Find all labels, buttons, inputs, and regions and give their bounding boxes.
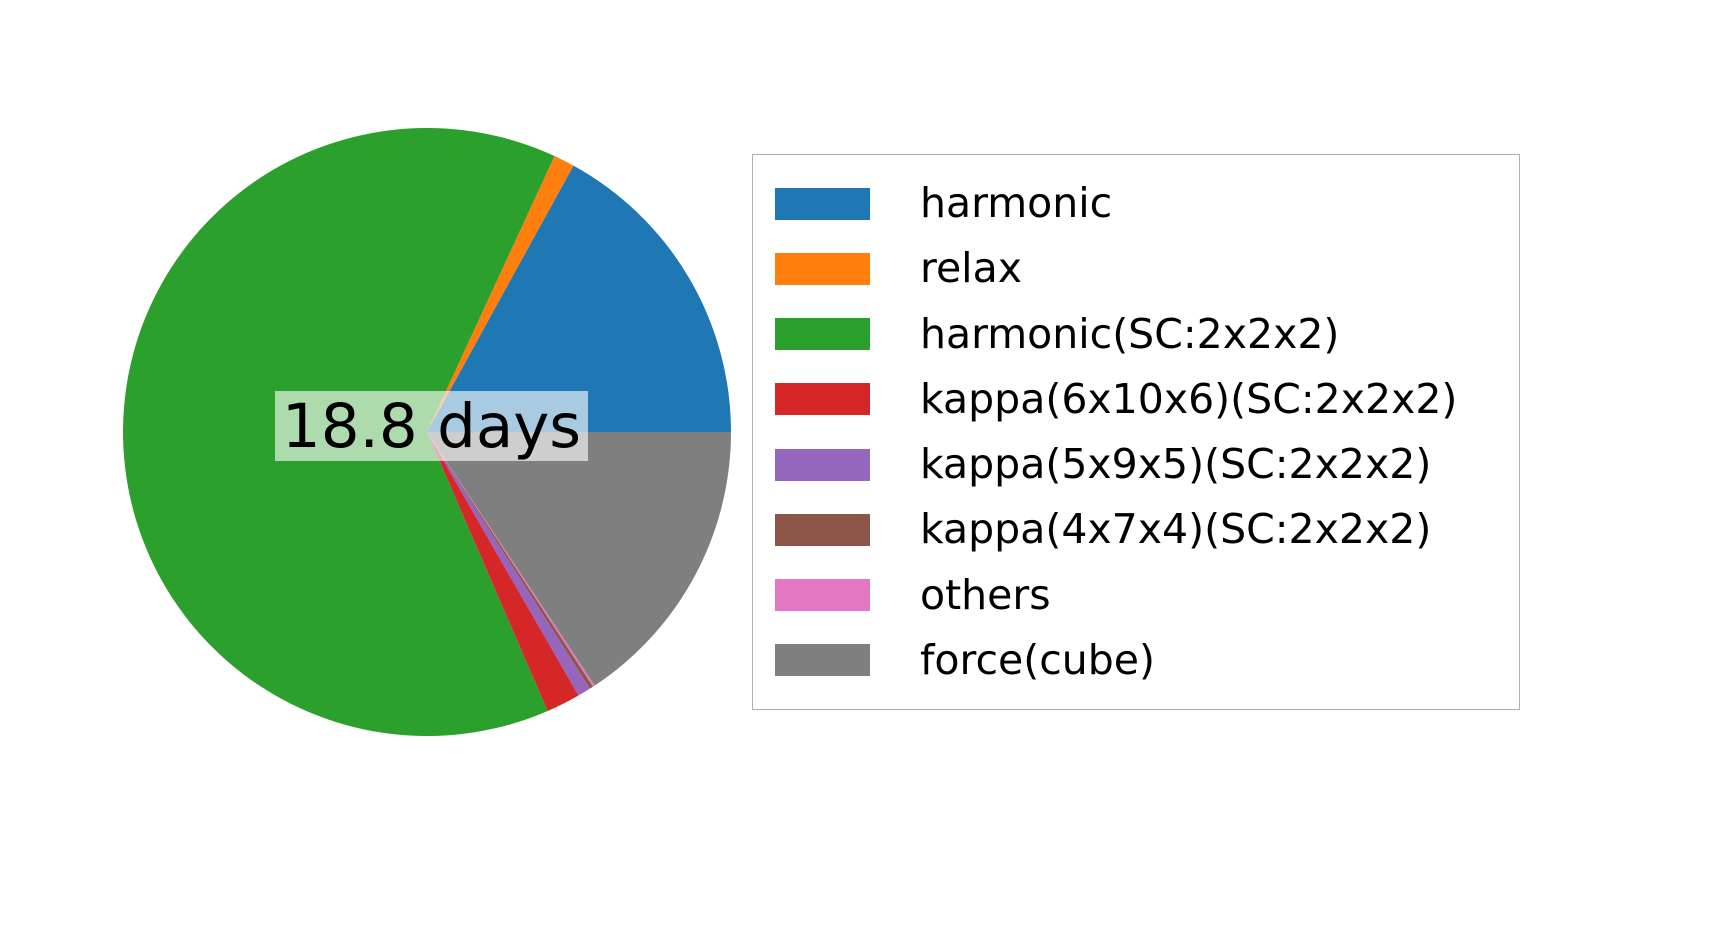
legend-color-swatch [775,383,870,415]
legend-color-swatch [775,579,870,611]
legend-color-swatch [775,449,870,481]
legend-entry-label: harmonic(SC:2x2x2) [920,314,1339,355]
legend-color-swatch [775,644,870,676]
legend-entry-list: harmonicrelaxharmonic(SC:2x2x2)kappa(6x1… [753,171,1519,693]
legend-entry[interactable]: force(cube) [753,628,1519,693]
legend-entry-label: others [920,575,1051,616]
legend-entry[interactable]: harmonic [753,171,1519,236]
legend-entry[interactable]: kappa(5x9x5)(SC:2x2x2) [753,432,1519,497]
legend-entry-label: relax [920,248,1022,289]
legend-entry[interactable]: relax [753,236,1519,301]
legend-entry-label: harmonic [920,183,1112,224]
legend-color-swatch [775,188,870,220]
legend-entry-label: kappa(5x9x5)(SC:2x2x2) [920,444,1431,485]
legend-color-swatch [775,253,870,285]
pie-chart-figure: 18.8 days harmonicrelaxharmonic(SC:2x2x2… [0,0,1728,951]
legend-entry[interactable]: others [753,563,1519,628]
legend-entry[interactable]: harmonic(SC:2x2x2) [753,302,1519,367]
legend-box: harmonicrelaxharmonic(SC:2x2x2)kappa(6x1… [752,154,1520,710]
legend-entry-label: kappa(6x10x6)(SC:2x2x2) [920,379,1457,420]
legend-entry[interactable]: kappa(6x10x6)(SC:2x2x2) [753,367,1519,432]
pie-center-label-text: 18.8 days [282,396,581,457]
legend-color-swatch [775,514,870,546]
legend-entry[interactable]: kappa(4x7x4)(SC:2x2x2) [753,497,1519,562]
legend-color-swatch [775,318,870,350]
pie-center-label-box: 18.8 days [275,391,588,461]
legend-entry-label: kappa(4x7x4)(SC:2x2x2) [920,509,1431,550]
legend-entry-label: force(cube) [920,640,1155,681]
